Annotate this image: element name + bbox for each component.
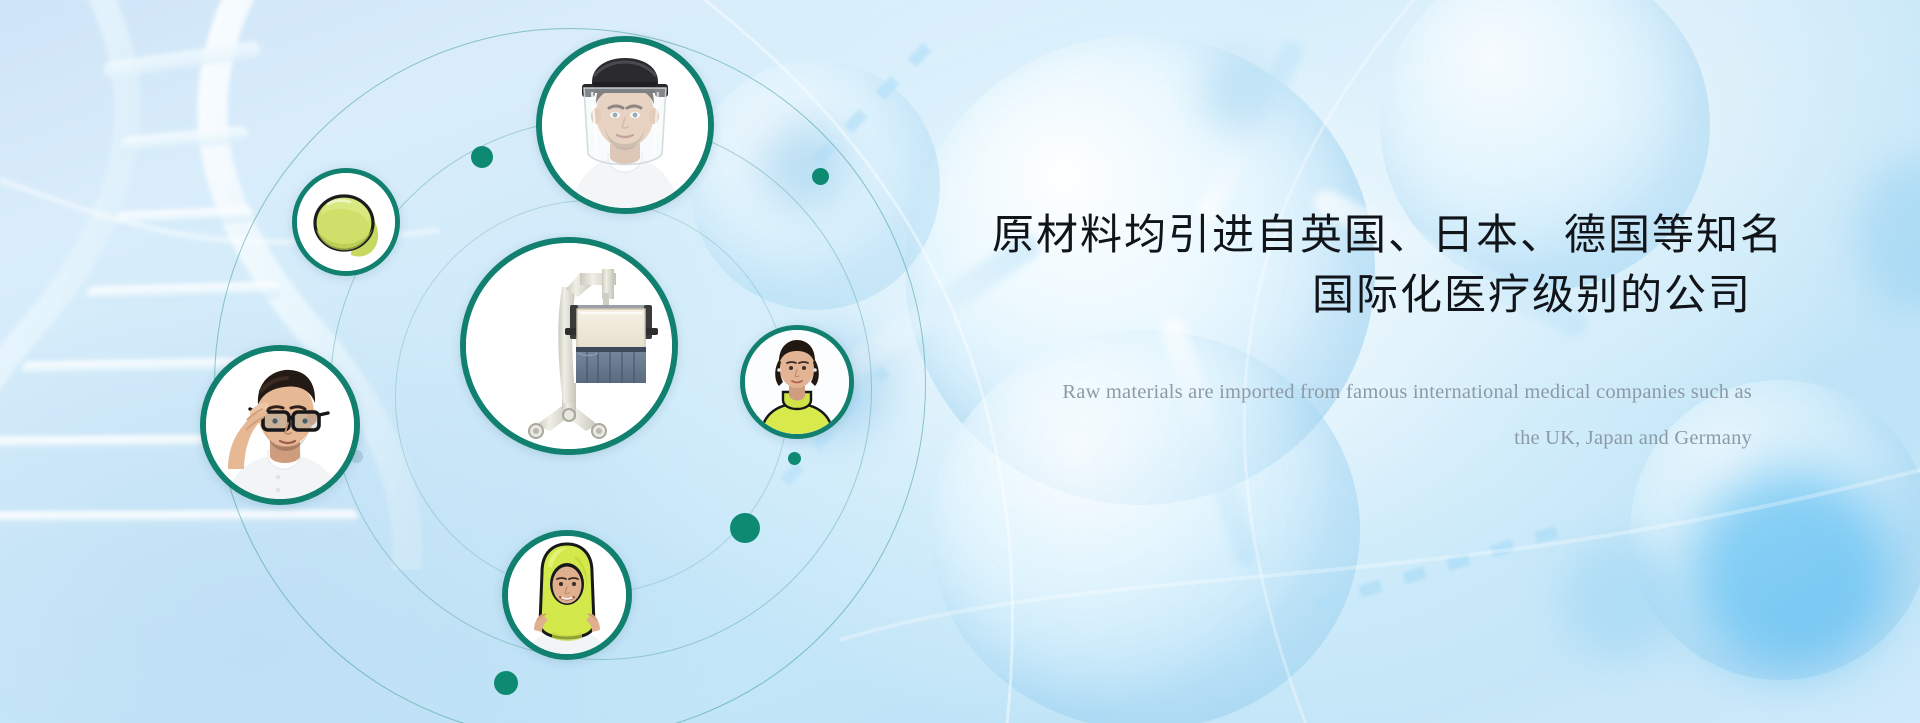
protective-hood-woman-illustration xyxy=(508,536,626,654)
hero-banner: 原材料均引进自英国、日本、德国等知名 国际化医疗级别的公司 Raw materi… xyxy=(0,0,1920,723)
accent-dot-large-right xyxy=(730,513,760,543)
accent-dot-bottom xyxy=(494,671,518,695)
banner-copy: 原材料均引进自英国、日本、德国等知名 国际化医疗级别的公司 Raw materi… xyxy=(992,205,1752,461)
face-shield-man-illustration xyxy=(542,42,708,208)
protective-cap-illustration xyxy=(297,173,395,271)
bubble-protective-cap[interactable] xyxy=(292,168,400,276)
subcopy: Raw materials are imported from famous i… xyxy=(992,369,1752,461)
subcopy-line-1: Raw materials are imported from famous i… xyxy=(992,369,1752,415)
bubble-protective-eyewear-man[interactable] xyxy=(200,345,360,505)
bubble-face-shield-man[interactable] xyxy=(536,36,714,214)
bubble-mobile-radiation-shield[interactable] xyxy=(460,237,678,455)
accent-dot-top xyxy=(471,146,493,168)
bubble-protective-hood-woman[interactable] xyxy=(502,530,632,660)
accent-dot-right-mid xyxy=(788,452,801,465)
headline-line-1: 原材料均引进自英国、日本、德国等知名 xyxy=(992,205,1752,265)
headline-line-2: 国际化医疗级别的公司 xyxy=(992,265,1752,325)
subcopy-line-2: the UK, Japan and Germany xyxy=(992,415,1752,461)
mobile-radiation-shield-illustration xyxy=(466,243,672,449)
thyroid-collar-woman-illustration xyxy=(745,330,849,434)
accent-dot-right-upper xyxy=(812,168,829,185)
bubble-thyroid-collar-woman[interactable] xyxy=(740,325,854,439)
protective-eyewear-man-illustration xyxy=(206,351,354,499)
